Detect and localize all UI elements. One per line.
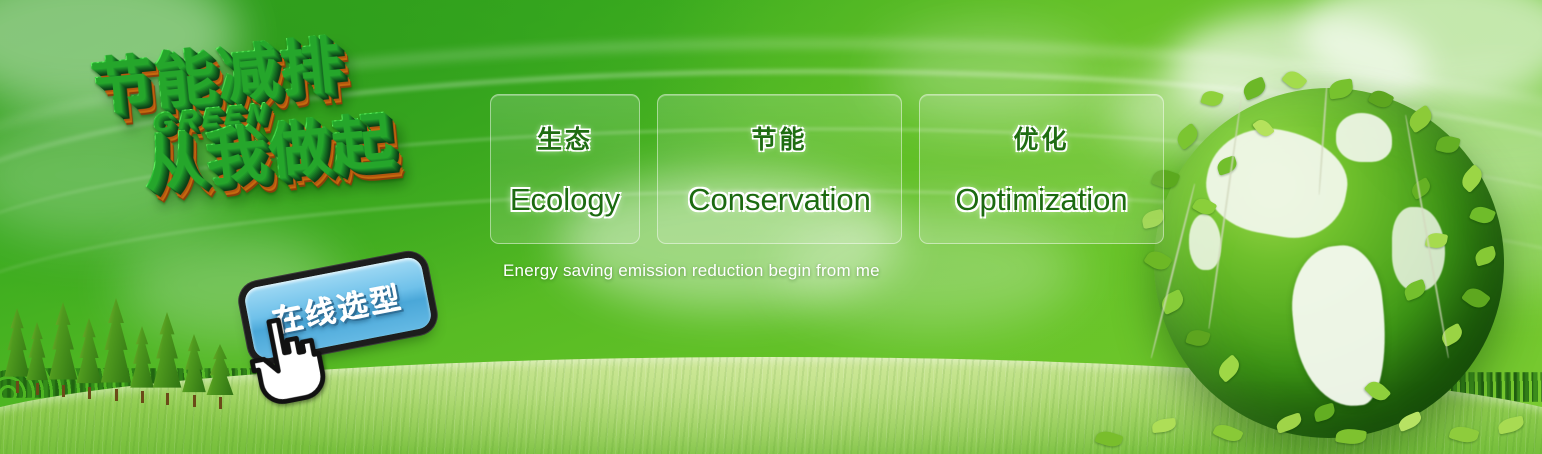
feature-card-list: 生态 Ecology 节能 Conservation 优化 Optimizati… [490,94,1164,244]
feature-card-cn-label: 优化 [1013,120,1069,156]
page-title: 节能减排 GREEN 从我做起 [88,20,498,286]
leafy-earth-globe-icon [1154,88,1504,438]
green-energy-banner: 节能减排 GREEN 从我做起 在线选型 生态 Ecology 节能 Conse… [0,0,1542,454]
continent-south-america [1286,241,1393,411]
leaf-icon [1241,76,1269,100]
conifer-tree-icon [150,312,184,398]
continent-africa [1392,207,1445,291]
globe-sphere [1154,88,1504,438]
online-selection-button[interactable]: 在线选型 [243,255,433,360]
feature-card-en-label: Optimization [955,182,1127,218]
feature-card-cn-label: 生态 [537,120,593,156]
cloud-icon [1300,0,1542,100]
continent-north-america [1198,119,1354,247]
feature-card-ecology[interactable]: 生态 Ecology [490,94,640,244]
feature-card-conservation[interactable]: 节能 Conservation [657,94,902,244]
conifer-tree-icon [204,344,236,402]
online-selection-button-wrap: 在线选型 [243,255,433,360]
feature-card-cn-label: 节能 [751,120,807,156]
leaf-icon [1200,88,1224,108]
continent-greenland [1336,113,1392,162]
feature-card-optimization[interactable]: 优化 Optimization [919,94,1164,244]
continent-island [1189,214,1221,270]
feature-card-en-label: Ecology [510,182,620,218]
banner-subtitle: Energy saving emission reduction begin f… [503,261,880,281]
feature-card-en-label: Conservation [688,182,871,218]
